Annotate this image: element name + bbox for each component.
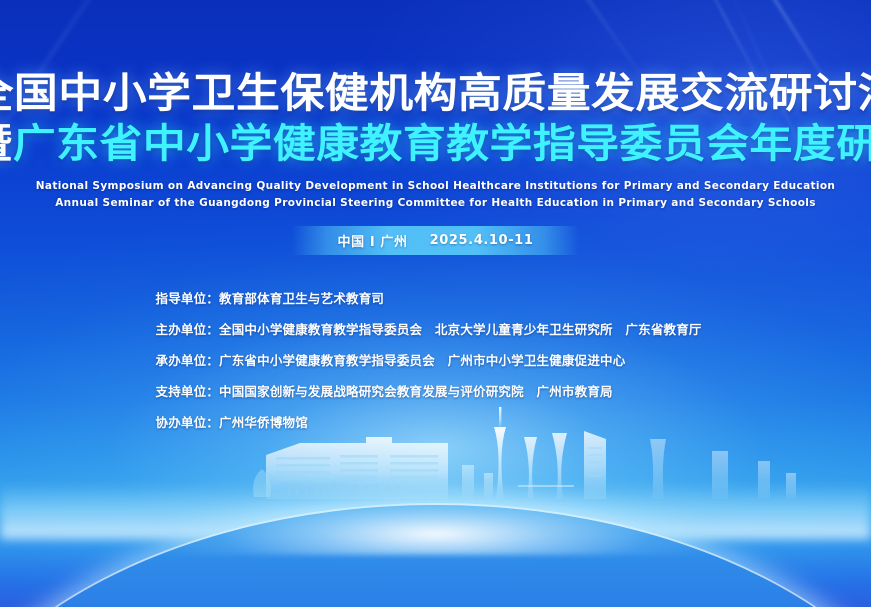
organization-row: 协办单位： 广州华侨博物馆	[156, 412, 716, 431]
event-info-badge: 中国 I 广州 2025.4.10-11	[292, 226, 580, 255]
organization-label: 协办单位：	[156, 412, 220, 431]
organization-row: 指导单位： 教育部体育卫生与艺术教育司	[156, 288, 716, 307]
organization-row: 主办单位： 全国中小学健康教育教学指导委员会 北京大学儿童青少年卫生研究所 广东…	[156, 319, 716, 338]
organization-row: 承办单位： 广东省中小学健康教育教学指导委员会 广州市中小学卫生健康促进中心	[156, 350, 716, 369]
organization-value: 教育部体育卫生与艺术教育司	[219, 288, 715, 307]
organization-value: 全国中小学健康教育教学指导委员会 北京大学儿童青少年卫生研究所 广东省教育厅	[219, 319, 715, 338]
title-line-2: 暨广东省中小学健康教育教学指导委员会年度研讨活动	[0, 124, 871, 166]
title-line-2-rest: 广东省中小学健康教育教学指导委员会年度研讨活动	[13, 121, 871, 167]
organization-row: 支持单位： 中国国家创新与发展战略研究会教育发展与评价研究院 广州市教育局	[156, 381, 716, 400]
organization-value: 广州华侨博物馆	[219, 412, 715, 431]
organization-label: 主办单位：	[156, 319, 220, 338]
organization-label: 支持单位：	[156, 381, 220, 400]
organization-value: 中国国家创新与发展战略研究会教育发展与评价研究院 广州市教育局	[219, 381, 715, 400]
organizations-list: 指导单位： 教育部体育卫生与艺术教育司 主办单位： 全国中小学健康教育教学指导委…	[0, 288, 871, 431]
title-line-1: 全国中小学卫生保健机构高质量发展交流研讨活动	[0, 72, 871, 115]
subtitle-english-line-1: National Symposium on Advancing Quality …	[0, 178, 871, 195]
organization-label: 指导单位：	[156, 288, 220, 307]
event-info-badge-wrapper: 中国 I 广州 2025.4.10-11	[0, 226, 871, 255]
organization-value: 广东省中小学健康教育教学指导委员会 广州市中小学卫生健康促进中心	[219, 350, 715, 369]
badge-location: 中国 I 广州	[338, 231, 408, 250]
organization-label: 承办单位：	[156, 350, 220, 369]
poster-subtitle: National Symposium on Advancing Quality …	[0, 178, 871, 212]
title-line-2-lead: 暨	[0, 121, 13, 167]
poster-title: 全国中小学卫生保健机构高质量发展交流研讨活动 暨广东省中小学健康教育教学指导委员…	[0, 72, 871, 165]
subtitle-english-line-2: Annual Seminar of the Guangdong Provinci…	[0, 195, 871, 212]
badge-date: 2025.4.10-11	[430, 233, 534, 248]
conference-poster: 全国中小学卫生保健机构高质量发展交流研讨活动 暨广东省中小学健康教育教学指导委员…	[0, 0, 871, 607]
